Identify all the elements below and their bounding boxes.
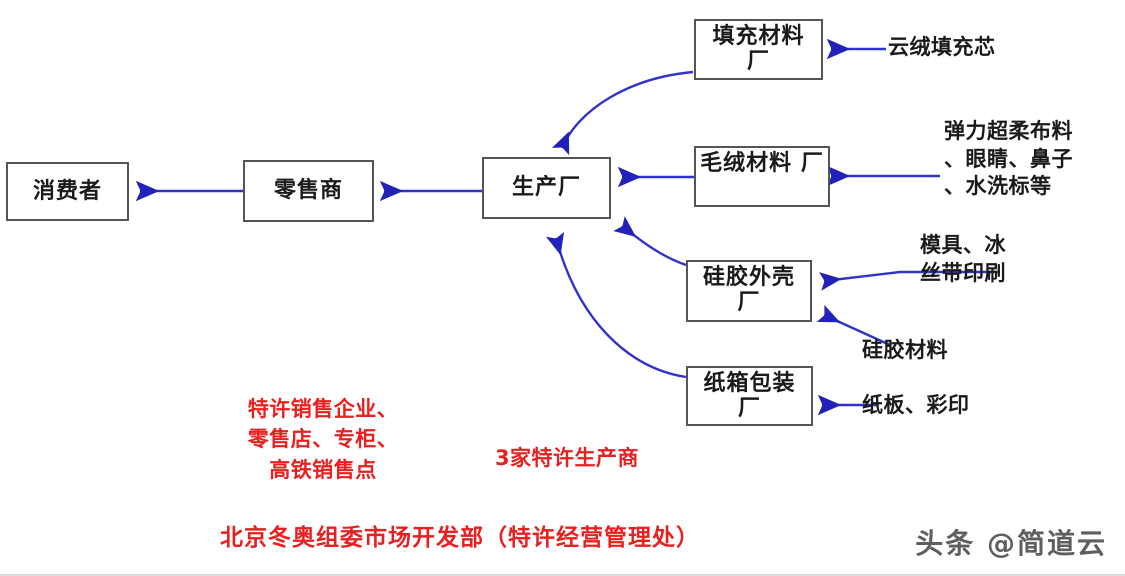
node-plush-material-factory[interactable]: 毛绒材料 厂 (694, 146, 830, 207)
material-label-paperboard-color-print: 纸板、彩印 (862, 392, 970, 420)
material-label-paperboard-color-print-text: 纸板、彩印 (862, 393, 970, 417)
material-label-mold-ice-ribbon-text: 模具、冰 丝带印刷 (920, 233, 1006, 285)
material-label-silicone-material-text: 硅胶材料 (862, 338, 948, 362)
node-plush-material-factory-label: 毛绒材料 厂 (696, 151, 828, 176)
diagram-title: 北京冬奥组委市场开发部（特许经营管理处） (150, 522, 770, 555)
material-label-fabric-eyes-nose-text: 弹力超柔布料 、眼睛、鼻子 、水洗标等 (944, 119, 1073, 198)
node-filling-material-factory-label: 填充材料 厂 (696, 24, 821, 75)
material-label-silicone-material: 硅胶材料 (862, 337, 948, 365)
material-label-filling-core-text: 云绒填充芯 (888, 35, 996, 59)
diagram-title-text: 北京冬奥组委市场开发部（特许经营管理处） (220, 525, 700, 551)
diagram-canvas: 消费者 零售商 生产厂 填充材料 厂 毛绒材料 厂 硅胶外壳 厂 纸箱包装 厂 … (0, 0, 1125, 576)
node-consumer[interactable]: 消费者 (6, 162, 129, 221)
watermark-text: 头条 @简道云 (915, 527, 1107, 560)
material-label-filling-core: 云绒填充芯 (888, 34, 996, 62)
annotation-sales-channels: 特许销售企业、 零售店、专柜、 高铁销售点 (208, 394, 438, 485)
material-label-fabric-eyes-nose: 弹力超柔布料 、眼睛、鼻子 、水洗标等 (944, 118, 1073, 201)
node-retailer[interactable]: 零售商 (243, 160, 374, 222)
annotation-licensed-producers: 3家特许生产商 (462, 443, 672, 473)
annotation-sales-channels-text: 特许销售企业、 零售店、专柜、 高铁销售点 (248, 397, 399, 482)
node-filling-material-factory[interactable]: 填充材料 厂 (694, 19, 823, 80)
node-silicone-shell-factory-label: 硅胶外壳 厂 (688, 265, 810, 316)
node-retailer-label: 零售商 (270, 178, 347, 203)
arrow-layer (0, 0, 1125, 576)
arrow-silicone-to-producer (622, 226, 686, 265)
node-producer-label: 生产厂 (508, 175, 585, 200)
arrow-carton-to-producer (556, 238, 686, 377)
annotation-licensed-producers-text: 3家特许生产商 (495, 446, 639, 470)
material-label-mold-ice-ribbon: 模具、冰 丝带印刷 (920, 232, 1006, 287)
watermark: 头条 @简道云 (915, 522, 1107, 562)
node-silicone-shell-factory[interactable]: 硅胶外壳 厂 (686, 260, 812, 322)
node-consumer-label: 消费者 (29, 179, 106, 204)
node-producer[interactable]: 生产厂 (482, 157, 611, 219)
node-carton-packaging-factory[interactable]: 纸箱包装 厂 (686, 366, 813, 426)
arrow-filling-to-producer (562, 72, 693, 148)
node-carton-packaging-factory-label: 纸箱包装 厂 (688, 371, 811, 422)
